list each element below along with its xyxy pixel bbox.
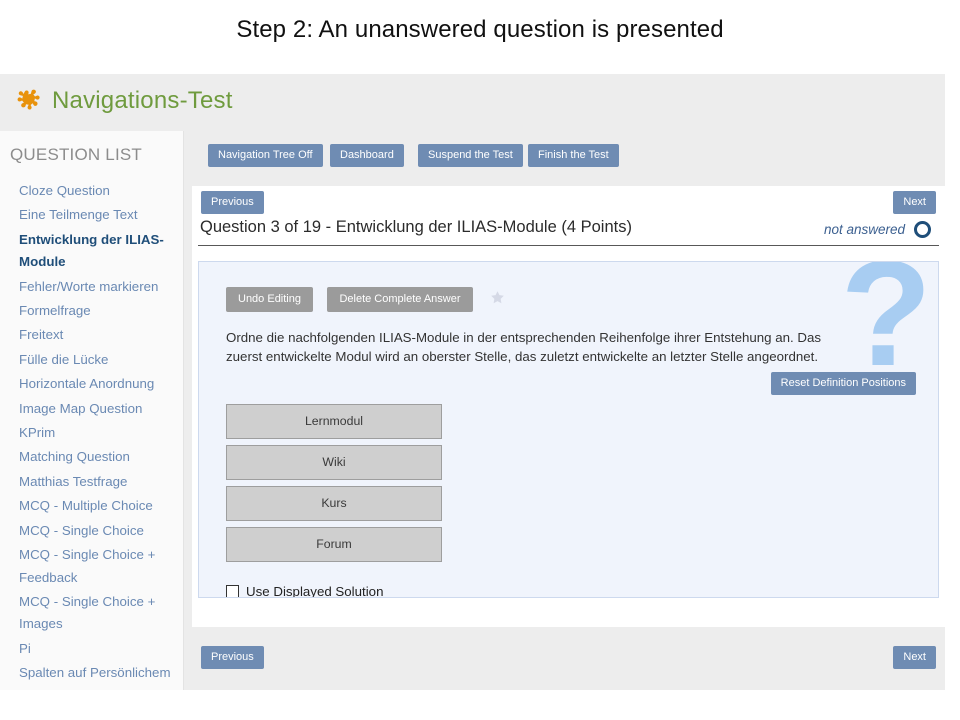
delete-complete-answer-button[interactable]: Delete Complete Answer: [327, 287, 472, 312]
undo-editing-button[interactable]: Undo Editing: [226, 287, 313, 312]
next-button-bottom[interactable]: Next: [893, 646, 936, 669]
slide-title: Step 2: An unanswered question is presen…: [0, 16, 960, 44]
slide-page: Step 2: An unanswered question is presen…: [0, 0, 960, 720]
sidebar-item-spalten-auf-persoenlichem-schreibtisch[interactable]: Spalten auf Persönlichem Schreibtisch: [0, 661, 183, 690]
question-list-heading: QUESTION LIST: [0, 131, 183, 175]
answer-item-forum[interactable]: Forum: [226, 527, 442, 562]
use-displayed-solution-label: Use Displayed Solution: [246, 584, 383, 598]
question-list: Cloze Question Eine Teilmenge Text Entwi…: [0, 175, 183, 690]
sidebar-item-fuelle-die-luecke[interactable]: Fülle die Lücke: [0, 348, 183, 372]
navigation-tree-off-button[interactable]: Navigation Tree Off: [208, 144, 323, 167]
answer-panel: ? Undo Editing Delete Complete Answer Or…: [198, 261, 939, 598]
sidebar-item-eine-teilmenge-text[interactable]: Eine Teilmenge Text: [0, 203, 183, 227]
answer-order-list: Lernmodul Wiki Kurs Forum: [226, 404, 442, 568]
use-displayed-solution-row[interactable]: Use Displayed Solution: [226, 584, 383, 598]
sidebar-item-fehler-worte-markieren[interactable]: Fehler/Worte markieren: [0, 275, 183, 299]
answer-item-wiki[interactable]: Wiki: [226, 445, 442, 480]
sidebar-item-matthias-testfrage[interactable]: Matthias Testfrage: [0, 470, 183, 494]
sidebar-item-pi[interactable]: Pi: [0, 637, 183, 661]
ilias-test-window: Navigations-Test QUESTION LIST Cloze Que…: [0, 74, 945, 690]
question-list-sidebar: QUESTION LIST Cloze Question Eine Teilme…: [0, 131, 184, 690]
previous-button-top[interactable]: Previous: [201, 191, 264, 214]
answer-item-lernmodul[interactable]: Lernmodul: [226, 404, 442, 439]
dashboard-button[interactable]: Dashboard: [330, 144, 404, 167]
bottom-nav-row: Previous Next: [192, 638, 945, 678]
empty-circle-icon: [914, 221, 931, 238]
test-toolbar: Navigation Tree Off Dashboard Suspend th…: [184, 131, 945, 186]
app-header: Navigations-Test: [0, 74, 945, 131]
app-title: Navigations-Test: [52, 87, 233, 115]
puzzle-piece-icon: [14, 88, 42, 116]
sidebar-item-freitext[interactable]: Freitext: [0, 323, 183, 347]
question-prompt: Ordne die nachfolgenden ILIAS-Module in …: [226, 328, 846, 366]
star-icon[interactable]: [490, 290, 505, 310]
finish-the-test-button[interactable]: Finish the Test: [528, 144, 619, 167]
sidebar-item-kprim[interactable]: KPrim: [0, 421, 183, 445]
sidebar-item-mcq-single-choice-feedback[interactable]: MCQ - Single Choice + Feedback: [0, 543, 183, 590]
sidebar-item-image-map-question[interactable]: Image Map Question: [0, 397, 183, 421]
answer-actions: Undo Editing Delete Complete Answer: [226, 287, 505, 312]
suspend-the-test-button[interactable]: Suspend the Test: [418, 144, 523, 167]
sidebar-item-cloze-question[interactable]: Cloze Question: [0, 179, 183, 203]
sidebar-item-matching-question[interactable]: Matching Question: [0, 445, 183, 469]
question-card: Previous Next Question 3 of 19 - Entwick…: [192, 186, 945, 627]
sidebar-item-mcq-multiple-choice[interactable]: MCQ - Multiple Choice: [0, 494, 183, 518]
sidebar-item-formelfrage[interactable]: Formelfrage: [0, 299, 183, 323]
top-nav-row: Previous Next: [192, 186, 945, 218]
question-header-text: Question 3 of 19 - Entwicklung der ILIAS…: [200, 218, 632, 237]
answer-item-kurs[interactable]: Kurs: [226, 486, 442, 521]
sidebar-item-mcq-single-choice-images[interactable]: MCQ - Single Choice + Images: [0, 590, 183, 637]
previous-button-bottom[interactable]: Previous: [201, 646, 264, 669]
sidebar-item-horizontale-anordnung[interactable]: Horizontale Anordnung: [0, 372, 183, 396]
sidebar-item-entwicklung-der-ilias-module[interactable]: Entwicklung der ILIAS-Module: [0, 228, 183, 275]
question-header: Question 3 of 19 - Entwicklung der ILIAS…: [198, 218, 939, 246]
question-mark-watermark-icon: ?: [840, 261, 932, 388]
sidebar-item-mcq-single-choice[interactable]: MCQ - Single Choice: [0, 519, 183, 543]
question-status-label: not answered: [824, 222, 905, 237]
reset-definition-positions-button[interactable]: Reset Definition Positions: [771, 372, 916, 395]
main-content: Navigation Tree Off Dashboard Suspend th…: [184, 131, 945, 690]
use-displayed-solution-checkbox[interactable]: [226, 585, 239, 598]
next-button-top[interactable]: Next: [893, 191, 936, 214]
